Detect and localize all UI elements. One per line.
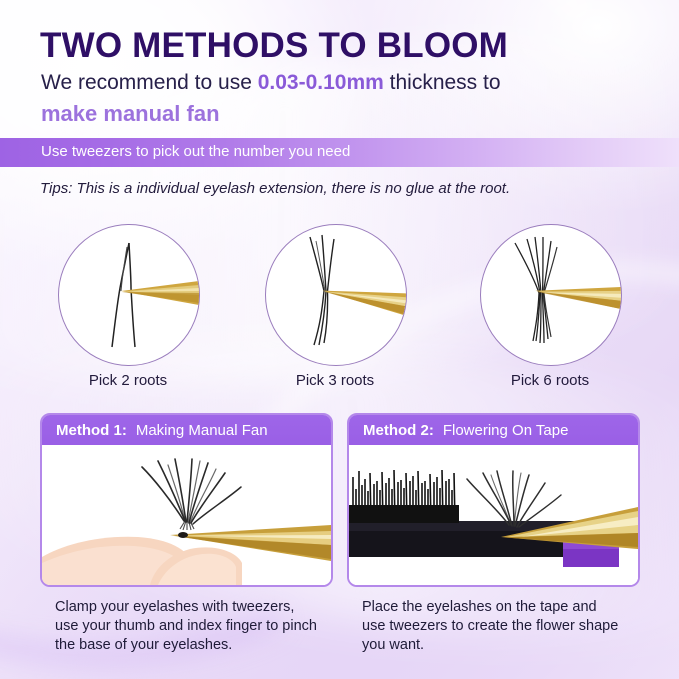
method-2-title: Flowering On Tape (443, 422, 569, 439)
thickness-value: 0.03-0.10mm (258, 71, 384, 94)
recommendation-line: We recommend to use 0.03-0.10mm thicknes… (41, 71, 501, 95)
recommendation-line-2: make manual fan (41, 101, 220, 127)
step-label-1: Pick 2 roots (58, 372, 198, 389)
step-item-2: Pick 3 roots (265, 224, 407, 366)
method-1-number: Method 1: (56, 422, 127, 439)
page-title: TWO METHODS TO BLOOM (40, 26, 508, 66)
step-item-1: Pick 2 roots (58, 224, 200, 366)
recommendation-suffix: thickness to (384, 71, 501, 94)
instruction-banner-label: Use tweezers to pick out the number you … (41, 143, 350, 160)
tweezers-3-lashes-icon (266, 225, 406, 365)
method-card-2: Method 2: Flowering On Tape (347, 413, 640, 587)
tweezers-6-lashes-icon (481, 225, 621, 365)
method-card-2-header: Method 2: Flowering On Tape (349, 415, 638, 445)
step-label-3: Pick 6 roots (480, 372, 620, 389)
method-1-caption: Clamp your eyelashes with tweezers, use … (55, 598, 345, 655)
method-1-photo (42, 445, 331, 585)
method-card-1: Method 1: Making Manual Fan (40, 413, 333, 587)
method-2-photo (349, 445, 638, 585)
hand-pinching-lash-fan-photo (42, 445, 331, 585)
step-item-3: Pick 6 roots (480, 224, 622, 366)
step-label-2: Pick 3 roots (265, 372, 405, 389)
tweezers-2-lashes-icon (59, 225, 199, 365)
method-2-number: Method 2: (363, 422, 434, 439)
tips-note: Tips: This is a individual eyelash exten… (40, 180, 510, 197)
lashes-on-tape-photo (349, 445, 638, 585)
recommendation-prefix: We recommend to use (41, 71, 258, 94)
method-card-1-header: Method 1: Making Manual Fan (42, 415, 331, 445)
method-1-title: Making Manual Fan (136, 422, 268, 439)
infographic-page: TWO METHODS TO BLOOM We recommend to use… (0, 0, 679, 679)
step-circle-2 (265, 224, 407, 366)
step-circle-1 (58, 224, 200, 366)
step-circle-3 (480, 224, 622, 366)
method-2-caption: Place the eyelashes on the tape and use … (362, 598, 652, 655)
